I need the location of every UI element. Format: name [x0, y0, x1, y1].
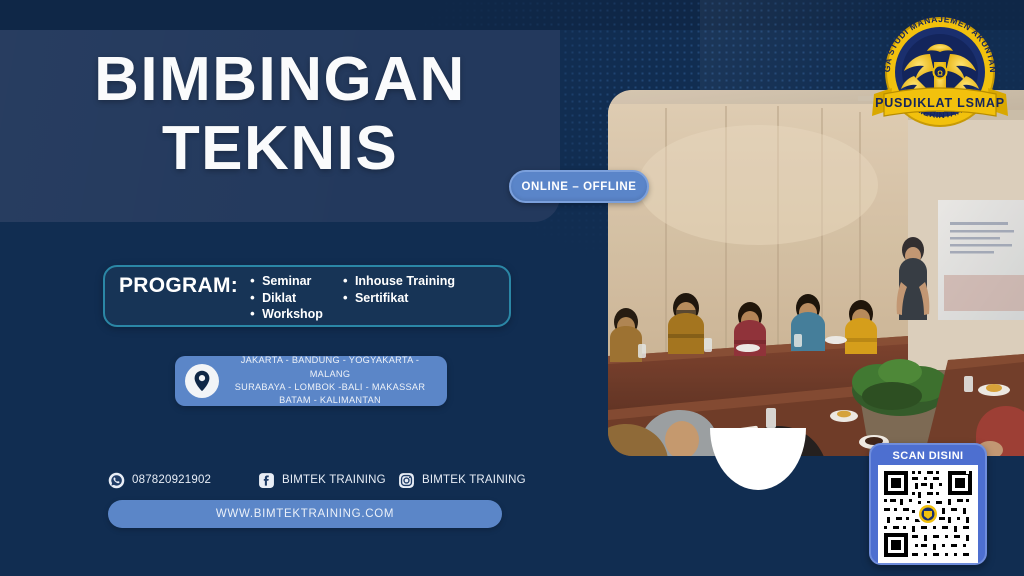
program-column-1: Seminar Diklat Workshop [250, 273, 323, 323]
program-label: PROGRAM: [119, 273, 238, 296]
page-title: BIMBINGAN TEKNIS [0, 48, 560, 180]
website-bar[interactable]: WWW.BIMTEKTRAINING.COM [108, 500, 502, 528]
program-box: PROGRAM: Seminar Diklat Workshop Inhouse… [103, 265, 511, 327]
contact-whatsapp[interactable]: 087820921902 [108, 472, 258, 489]
title-line-2: TEKNIS [0, 117, 560, 180]
poster-canvas: BIMBINGAN TEKNIS ONLINE – OFFLINE PROGRA… [0, 0, 1024, 576]
locations-line: BATAM - KALIMANTAN [219, 394, 441, 407]
qr-code [878, 465, 978, 563]
facebook-icon [258, 472, 275, 489]
contact-facebook-label: BIMTEK TRAINING [282, 474, 386, 486]
svg-text:PUSDIKLAT LSMAP: PUSDIKLAT LSMAP [875, 96, 1005, 110]
program-item: Workshop [250, 306, 323, 323]
instagram-icon [398, 472, 415, 489]
program-item: Inhouse Training [343, 273, 455, 290]
program-columns: Seminar Diklat Workshop Inhouse Training… [250, 273, 455, 323]
organization-logo: LEMBAGA STUDI MANAJEMEN AKUNTANSI DAN PE… [862, 2, 1018, 134]
program-column-2: Inhouse Training Sertifikat [343, 273, 455, 323]
contact-instagram-label: BIMTEK TRAINING [422, 474, 526, 486]
locations-text: JAKARTA - BANDUNG - YOGYAKARTA - MALANG … [219, 354, 447, 407]
program-item: Diklat [250, 290, 323, 307]
svg-text:Ω: Ω [937, 71, 943, 78]
qr-title: SCAN DISINI [871, 448, 985, 464]
contact-whatsapp-label: 087820921902 [132, 474, 211, 486]
training-photo [608, 90, 1024, 456]
qr-panel[interactable]: SCAN DISINI [869, 443, 987, 565]
program-item: Sertifikat [343, 290, 455, 307]
locations-line: SURABAYA - LOMBOK -BALI - MAKASSAR [219, 381, 441, 394]
program-item: Seminar [250, 273, 323, 290]
contact-row: 087820921902 BIMTEK TRAINING BIMTEK TR [108, 468, 528, 492]
contact-facebook[interactable]: BIMTEK TRAINING [258, 472, 398, 489]
title-line-1: BIMBINGAN [94, 45, 466, 114]
locations-pill: JAKARTA - BANDUNG - YOGYAKARTA - MALANG … [175, 356, 447, 406]
whatsapp-icon [108, 472, 125, 489]
locations-line: JAKARTA - BANDUNG - YOGYAKARTA - MALANG [219, 354, 441, 381]
map-pin-icon [185, 364, 219, 398]
status-badge-mode: ONLINE – OFFLINE [509, 170, 649, 203]
contact-instagram[interactable]: BIMTEK TRAINING [398, 472, 526, 489]
